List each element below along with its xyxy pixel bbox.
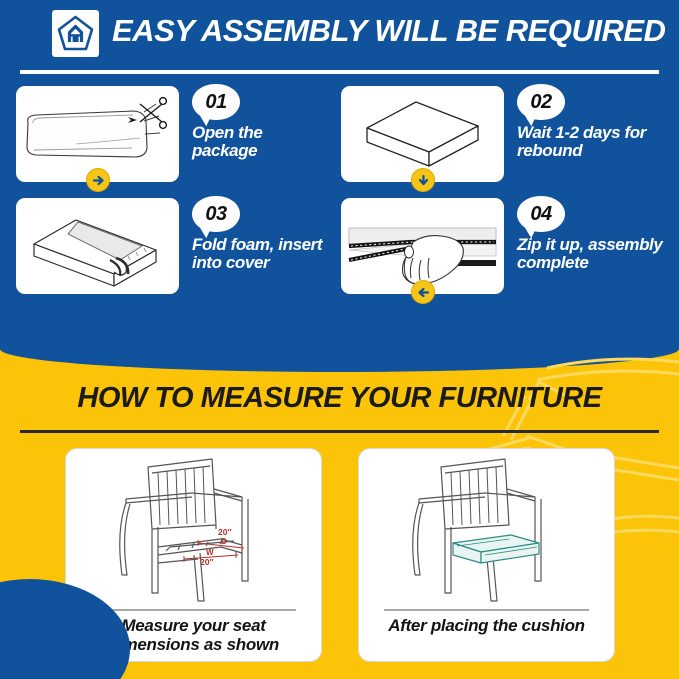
measure-panel-cushion: After placing the cushion [358, 448, 615, 662]
step-03-label: Fold foam, insert into cover [192, 236, 342, 271]
step-04-number: 04 [530, 203, 551, 226]
step-04-text: 04 Zip it up, assembly complete [517, 196, 667, 271]
steps-grid: 01 Open the package [0, 84, 679, 308]
panel-divider [384, 609, 589, 611]
measure-panel-caption: After placing the cushion [367, 617, 606, 636]
step-03-number: 03 [205, 203, 226, 226]
header-divider [20, 70, 659, 74]
step-01: 01 Open the package [16, 84, 342, 196]
step-02-number: 02 [530, 91, 551, 114]
depth-label: 20″ [218, 527, 232, 537]
assembly-section: EASY ASSEMBLY WILL BE REQUIRED [0, 0, 679, 372]
step-02-number-badge: 02 [517, 84, 565, 120]
step-03: 03 Fold foam, insert into cover [16, 196, 342, 308]
step-02-text: 02 Wait 1-2 days for rebound [517, 84, 667, 159]
panel-divider [91, 609, 296, 611]
step-01-label: Open the package [192, 124, 342, 159]
step-02-label: Wait 1-2 days for rebound [517, 124, 667, 159]
assembly-header: EASY ASSEMBLY WILL BE REQUIRED [0, 0, 679, 64]
step-03-card [16, 198, 179, 294]
arrow-down-icon [411, 168, 435, 192]
measure-title: HOW TO MEASURE YOUR FURNITURE [0, 382, 679, 415]
fold-foam-into-cover-icon [16, 198, 179, 294]
depth-letter: D [221, 537, 227, 546]
steps-row-1: 01 Open the package [0, 84, 679, 196]
step-03-number-badge: 03 [192, 196, 240, 232]
step-01-number: 01 [205, 91, 226, 114]
steps-row-2: 03 Fold foam, insert into cover [0, 196, 679, 308]
page-title: EASY ASSEMBLY WILL BE REQUIRED [112, 13, 665, 49]
step-04-number-badge: 04 [517, 196, 565, 232]
step-04-label: Zip it up, assembly complete [517, 236, 667, 271]
infographic-root: EASY ASSEMBLY WILL BE REQUIRED [0, 0, 679, 679]
width-letter: W [206, 548, 214, 557]
step-02: 02 Wait 1-2 days for rebound [341, 84, 667, 196]
step-01-number-badge: 01 [192, 84, 240, 120]
step-03-text: 03 Fold foam, insert into cover [192, 196, 342, 271]
step-04: 04 Zip it up, assembly complete [341, 196, 667, 308]
arrow-left-icon [411, 280, 435, 304]
chair-with-dimensions-icon: 20″ D W 20″ [66, 451, 321, 606]
chair-with-cushion-icon [359, 451, 614, 606]
arrow-right-icon [86, 168, 110, 192]
measure-divider [20, 430, 659, 433]
width-label: 20″ [200, 557, 214, 567]
measure-section: HOW TO MEASURE YOUR FURNITURE [0, 330, 679, 679]
house-pentagon-logo-icon [52, 10, 99, 57]
step-01-text: 01 Open the package [192, 84, 342, 159]
